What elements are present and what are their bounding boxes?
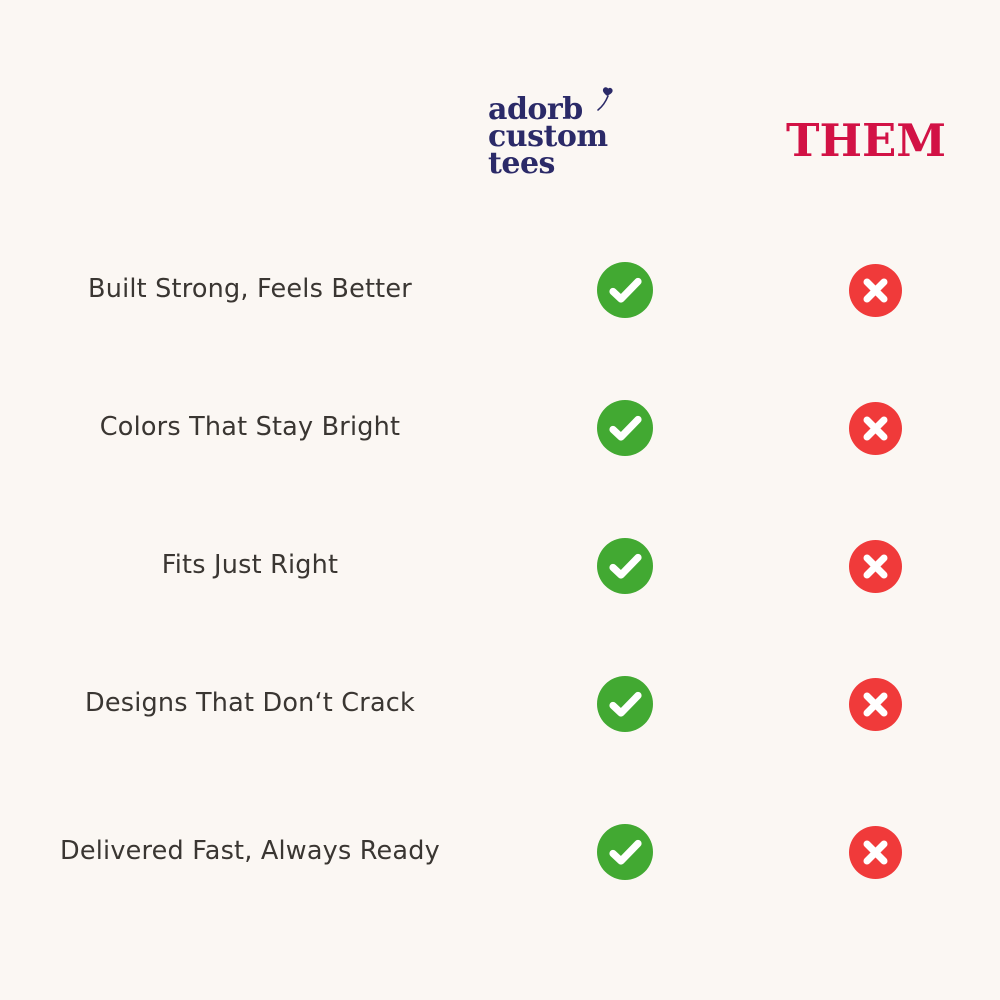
cell-us bbox=[500, 400, 750, 456]
cell-them bbox=[750, 678, 1000, 731]
brand-logo-line-1-text: adorb bbox=[488, 92, 583, 127]
table-row: Delivered Fast, Always Ready bbox=[0, 802, 1000, 902]
table-row: Colors That Stay Bright bbox=[0, 393, 1000, 463]
check-circle-icon bbox=[597, 262, 653, 318]
cross-circle-icon bbox=[849, 826, 902, 879]
feature-label: Colors That Stay Bright bbox=[0, 411, 500, 445]
cell-us bbox=[500, 538, 750, 594]
competitor-label: THEM bbox=[786, 118, 936, 163]
check-circle-icon bbox=[597, 400, 653, 456]
feature-label: Built Strong, Feels Better bbox=[0, 273, 500, 307]
cell-them bbox=[750, 540, 1000, 593]
table-row: Built Strong, Feels Better bbox=[0, 255, 1000, 325]
brand-logo: adorb custom tees bbox=[488, 96, 648, 177]
comparison-rows: Built Strong, Feels Better Colors That S… bbox=[0, 230, 1000, 930]
table-row: Fits Just Right bbox=[0, 531, 1000, 601]
cross-circle-icon bbox=[849, 264, 902, 317]
feature-label: Designs That Don‘t Crack bbox=[0, 687, 500, 721]
cross-circle-icon bbox=[849, 678, 902, 731]
cell-them bbox=[750, 264, 1000, 317]
cell-us bbox=[500, 262, 750, 318]
comparison-table: adorb custom tees THEM Built Strong, Fee… bbox=[0, 0, 1000, 1000]
feature-label: Delivered Fast, Always Ready bbox=[0, 835, 500, 869]
comparison-header: adorb custom tees THEM bbox=[0, 0, 1000, 230]
brand-logo-line-1: adorb bbox=[488, 96, 648, 123]
brand-logo-line-3: tees bbox=[488, 150, 648, 177]
cell-them bbox=[750, 402, 1000, 455]
cell-us bbox=[500, 676, 750, 732]
cell-us bbox=[500, 824, 750, 880]
check-circle-icon bbox=[597, 676, 653, 732]
check-circle-icon bbox=[597, 538, 653, 594]
cross-circle-icon bbox=[849, 402, 902, 455]
check-circle-icon bbox=[597, 824, 653, 880]
feature-label: Fits Just Right bbox=[0, 549, 500, 583]
heart-balloon-icon bbox=[586, 84, 620, 114]
cell-them bbox=[750, 826, 1000, 879]
table-row: Designs That Don‘t Crack bbox=[0, 669, 1000, 739]
cross-circle-icon bbox=[849, 540, 902, 593]
